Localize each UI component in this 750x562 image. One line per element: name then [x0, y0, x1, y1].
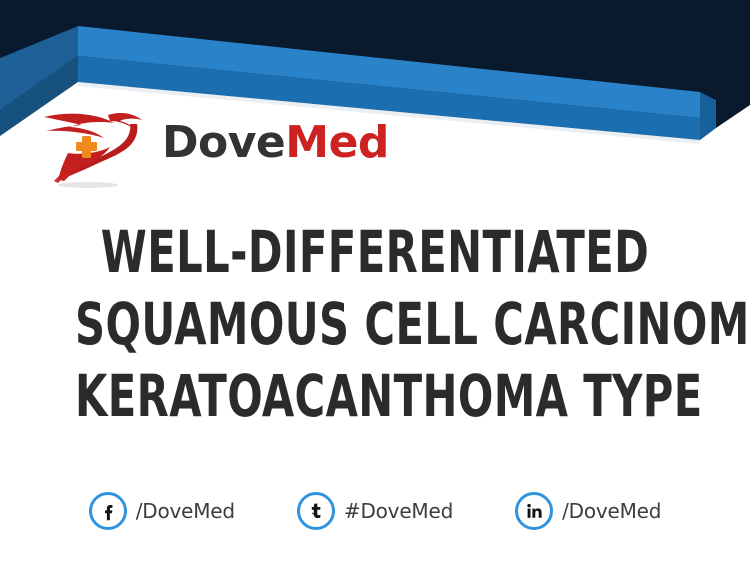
wordmark-dove: Dove [162, 117, 285, 168]
linkedin-handle[interactable]: /DoveMed [562, 499, 661, 523]
facebook-icon[interactable] [89, 492, 127, 530]
title-line-3: KERATOACANTHOMA TYPE [75, 360, 675, 432]
dove-with-medical-cross-logo [38, 97, 156, 189]
twitter-handle[interactable]: #DoveMed [344, 499, 453, 523]
content-panel: DoveMed WELL-DIFFERENTIATED SQUAMOUS CEL… [0, 0, 750, 562]
wordmark-med: Med [285, 117, 389, 168]
page-title: WELL-DIFFERENTIATED SQUAMOUS CELL CARCIN… [0, 216, 750, 432]
brand-wordmark: DoveMed [162, 121, 389, 165]
social-links: /DoveMed #DoveMed [0, 492, 750, 530]
dovemed-title-card: DoveMed WELL-DIFFERENTIATED SQUAMOUS CEL… [0, 0, 750, 562]
brand-logo: DoveMed [38, 97, 389, 189]
title-line-1: WELL-DIFFERENTIATED [75, 216, 675, 288]
social-item-twitter[interactable]: #DoveMed [297, 492, 453, 530]
linkedin-icon[interactable] [515, 492, 553, 530]
title-line-2: SQUAMOUS CELL CARCINOMA, [75, 288, 675, 360]
twitter-icon[interactable] [297, 492, 335, 530]
social-item-linkedin[interactable]: /DoveMed [515, 492, 661, 530]
facebook-handle[interactable]: /DoveMed [136, 499, 235, 523]
social-item-facebook[interactable]: /DoveMed [89, 492, 235, 530]
